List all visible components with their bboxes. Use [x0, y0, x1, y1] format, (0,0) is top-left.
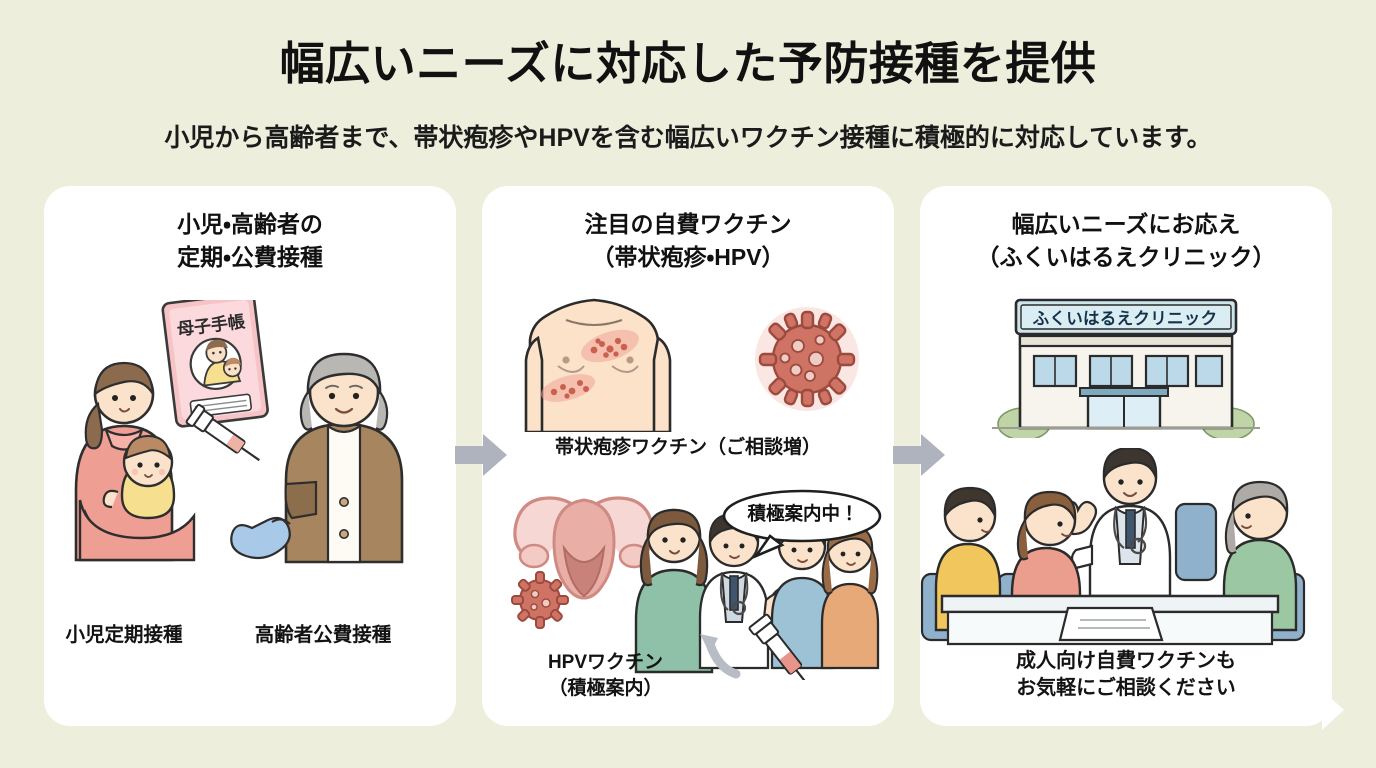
page-title: 幅広いニーズに対応した予防接種を提供 — [0, 38, 1376, 90]
card-1-illustration: 母子手帳 — [44, 300, 456, 630]
card-2-title-line2: （帯状疱疹・HPV） — [482, 241, 894, 274]
maternal-handbook-icon: 母子手帳 — [162, 300, 268, 427]
clinic-sign-text: ふくいはるえクリニック — [1020, 305, 1230, 329]
card-2-caption-hpv: HPVワクチン （積極案内） — [498, 650, 713, 702]
page-subtitle: 小児から高齢者まで、帯状疱疹やHPVを含む幅広いワクチン接種に積極的に対応してい… — [0, 118, 1376, 154]
card-2-caption-hpv-line2: （積極案内） — [498, 676, 713, 702]
card-2-title: 注目の自費ワクチン （帯状疱疹・HPV） — [482, 208, 894, 273]
card-2-title-line1: 注目の自費ワクチン — [585, 211, 792, 237]
card-1-caption-pediatric: 小児定期接種 — [34, 622, 214, 649]
card-1-caption-elderly: 高齢者公費接種 — [218, 622, 428, 649]
card-2-shingles-illustration — [482, 292, 894, 432]
card-2-speech-bubble-text: 積極案内中！ — [728, 500, 878, 526]
infographic-canvas: 幅広いニーズに対応した予防接種を提供 小児から高齢者まで、帯状疱疹やHPVを含む… — [0, 0, 1376, 768]
flow-arrow-tail — [1300, 690, 1356, 742]
card-3-caption: 成人向け自費ワクチンも お気軽にご相談ください — [920, 648, 1332, 702]
shingles-torso-icon — [526, 300, 670, 432]
card-1-title-line1: 小児・高齢者の — [177, 211, 323, 237]
card-2-caption-hpv-line1: HPVワクチン — [498, 650, 713, 676]
flow-arrow-1 — [455, 432, 507, 478]
document-icon — [1060, 608, 1162, 640]
card-3-title: 幅広いニーズにお応え （ふくいはるえクリニック） — [920, 208, 1332, 273]
gloved-hand-icon — [231, 518, 290, 558]
card-3-title-line1: 幅広いニーズにお応え — [1012, 211, 1241, 237]
card-1-title-line2: 定期・公費接種 — [44, 241, 456, 274]
hpv-virus-icon — [512, 572, 568, 628]
card-2-caption-shingles: 帯状疱疹ワクチン（ご相談増） — [482, 435, 894, 461]
card-3-title-line2: （ふくいはるえクリニック） — [920, 241, 1332, 274]
card-3-caption-line1: 成人向け自費ワクチンも — [920, 648, 1332, 675]
flow-arrow-2 — [893, 432, 945, 478]
consultation-illustration — [920, 448, 1332, 648]
card-3-caption-line2: お気軽にご相談ください — [920, 675, 1332, 702]
virus-particle-icon — [755, 307, 859, 411]
card-1-title: 小児・高齢者の 定期・公費接種 — [44, 208, 456, 273]
